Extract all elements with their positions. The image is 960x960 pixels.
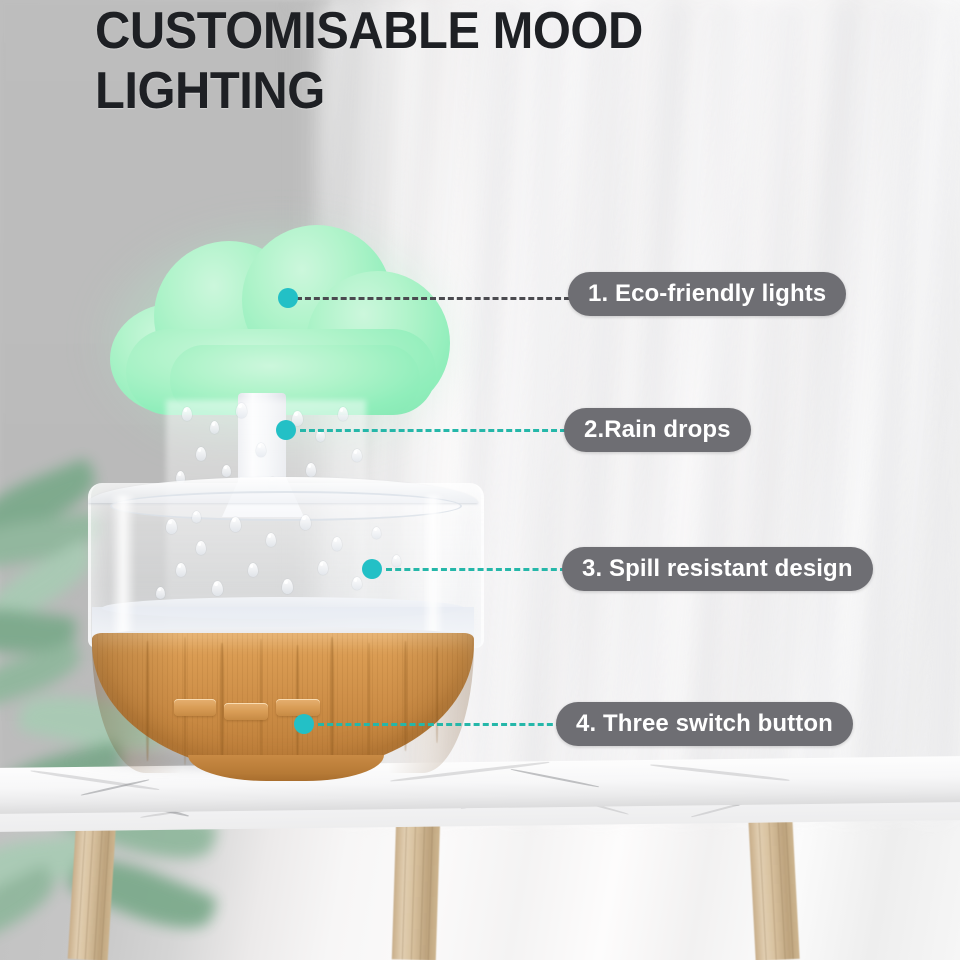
rain-drop	[318, 561, 328, 575]
table-leg-center	[392, 817, 440, 960]
callout-label-2-text: 2.Rain drops	[584, 416, 731, 444]
callout-label-2[interactable]: 2.Rain drops	[564, 408, 751, 452]
rain-drop	[352, 449, 362, 462]
infographic-canvas: 1. Eco-friendly lights 2.Rain drops 3. S…	[0, 0, 960, 960]
callout-label-1-text: 1. Eco-friendly lights	[588, 280, 826, 308]
table-leg-right	[748, 817, 799, 960]
rain-drop	[236, 403, 247, 418]
base-shading-left	[92, 633, 182, 773]
rain-drop	[192, 511, 201, 523]
table-leg-left	[68, 817, 117, 960]
callout-label-1[interactable]: 1. Eco-friendly lights	[568, 272, 846, 316]
callout-dot-spill-resistant-design	[362, 559, 382, 579]
callout-line-1	[296, 297, 570, 300]
callout-label-4-text: 4. Three switch button	[576, 710, 833, 738]
switch-button-2[interactable]	[224, 703, 268, 720]
callout-label-3[interactable]: 3. Spill resistant design	[562, 547, 873, 591]
glass-highlight-left	[110, 495, 136, 645]
callout-dot-three-switch-button	[294, 714, 314, 734]
rain-drop	[256, 443, 266, 457]
rain-drop	[372, 527, 381, 539]
rain-drop	[338, 407, 348, 421]
rain-drop	[196, 541, 206, 555]
callout-label-4[interactable]: 4. Three switch button	[556, 702, 853, 746]
switch-button-1[interactable]	[174, 699, 216, 716]
callout-dot-eco-friendly-lights	[278, 288, 298, 308]
glass-tank-inner-ring	[110, 491, 462, 521]
page-title: CUSTOMISABLE MOOD LIGHTING	[95, 30, 838, 92]
rain-drop	[392, 555, 401, 567]
callout-dot-rain-drops	[276, 420, 296, 440]
rain-drop	[332, 537, 342, 551]
callout-line-3	[386, 568, 566, 571]
rain-drop	[166, 519, 177, 534]
callout-line-4	[318, 723, 562, 726]
rain-drop	[212, 581, 223, 596]
rain-drop	[176, 563, 186, 577]
rain-drop	[352, 577, 362, 590]
rain-drop	[156, 587, 165, 599]
callout-label-3-text: 3. Spill resistant design	[582, 555, 853, 583]
rain-drop	[248, 563, 258, 577]
rain-drop	[282, 579, 293, 594]
base-shading-right	[388, 633, 474, 773]
rain-drop	[210, 421, 219, 434]
rain-drop	[230, 517, 241, 532]
callout-line-2	[300, 429, 566, 432]
rain-drop	[300, 515, 311, 530]
rain-drop	[196, 447, 206, 461]
cloud-diffuser-top	[110, 225, 450, 415]
rain-drop	[306, 463, 316, 477]
switch-button-3[interactable]	[276, 699, 320, 716]
rain-drop	[182, 407, 192, 421]
rain-drop	[266, 533, 276, 547]
rain-drop	[222, 465, 231, 477]
